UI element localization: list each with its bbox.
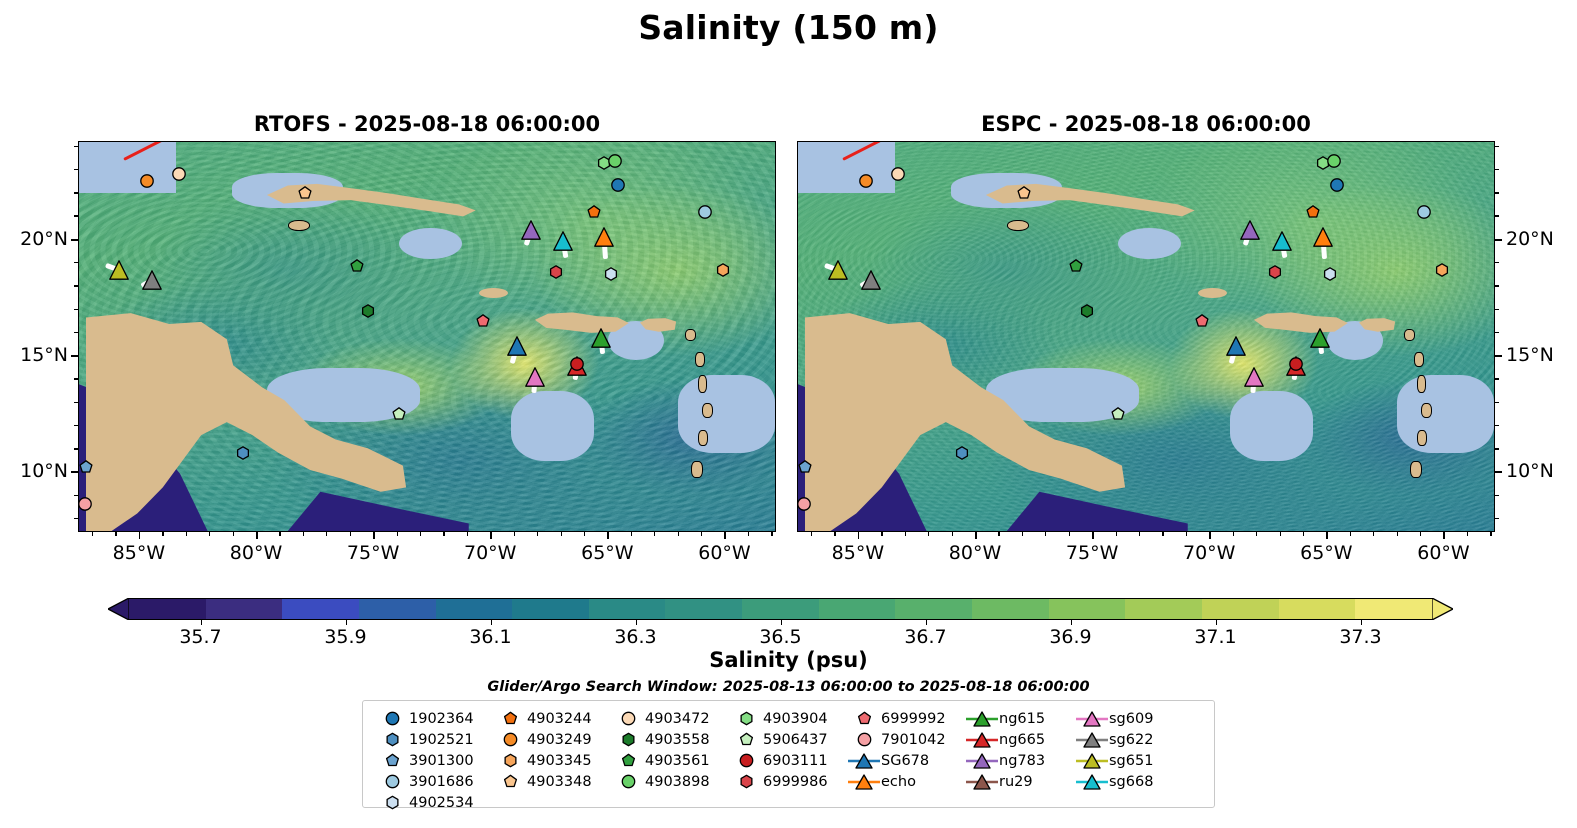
legend-item-label: ng783 [999, 753, 1045, 769]
x-axis-minor-tick [115, 532, 116, 536]
y-axis-minor-tick [1495, 215, 1499, 216]
legend-title: Glider/Argo Search Window: 2025-08-13 06… [0, 679, 1577, 695]
legend-item-sg651[interactable]: sg651 [1075, 750, 1185, 771]
x-axis-label: 75°W [1047, 542, 1137, 564]
x-axis-minor-tick [1467, 532, 1468, 536]
x-axis-minor-tick [233, 532, 234, 536]
legend-item-label: ng665 [999, 732, 1045, 748]
pentagon-marker-icon [493, 771, 527, 792]
x-axis-tick [607, 532, 609, 539]
circle-marker-icon [375, 708, 409, 729]
legend-item-6903111[interactable]: 6903111 [729, 750, 847, 771]
x-axis-minor-tick [537, 532, 538, 536]
hexagon-marker-icon [375, 729, 409, 750]
legend-item-label: 4903898 [645, 774, 710, 790]
colorbar-segment-16 [1355, 599, 1432, 619]
legend-item-label: SG678 [881, 753, 929, 769]
colorbar-tick [1216, 620, 1217, 625]
colorbar-tick [1071, 620, 1072, 625]
x-axis-minor-tick [92, 532, 93, 536]
legend-item-7901042[interactable]: 7901042 [847, 729, 965, 750]
map-marker-1902521[interactable] [954, 446, 969, 461]
x-axis-label: 65°W [1281, 542, 1371, 564]
y-axis-tick [1495, 239, 1502, 241]
colorbar-extend-max [1432, 598, 1453, 620]
hexagon-marker-icon [375, 792, 409, 813]
circle-marker-icon [847, 729, 881, 750]
map-marker-SG678[interactable] [507, 336, 528, 357]
circle-marker-icon [493, 729, 527, 750]
legend-item-label: echo [881, 774, 916, 790]
x-axis-minor-tick [443, 532, 444, 536]
y-axis-minor-tick [74, 262, 78, 263]
legend-item-echo[interactable]: echo [847, 771, 965, 792]
map-marker-4903558[interactable] [360, 304, 375, 319]
map-marker-7901042[interactable] [78, 496, 92, 511]
triangle-line-marker-icon [1075, 771, 1109, 792]
map-marker-4902534[interactable] [1323, 267, 1338, 282]
y-axis-tick [71, 471, 78, 473]
legend-item-label: 4903244 [527, 711, 592, 727]
legend-box[interactable]: 1902364190252139013003901686490253449032… [362, 700, 1215, 808]
salinity-field-espc [798, 142, 1494, 531]
x-axis-minor-tick [514, 532, 515, 536]
map-marker-4903345[interactable] [1434, 263, 1449, 278]
legend-item-label: sg651 [1109, 753, 1153, 769]
x-axis-label: 85°W [94, 542, 184, 564]
circle-marker-icon [611, 771, 645, 792]
map-marker-sg622[interactable] [142, 270, 163, 291]
legend-column-1: 4903244490324949033454903348 [493, 708, 611, 801]
y-axis-label: 10°N [1506, 460, 1554, 482]
colorbar-label: Salinity (psu) [0, 648, 1577, 672]
x-axis-minor-tick [467, 532, 468, 536]
y-axis-label: 20°N [0, 228, 68, 250]
salinity-field-rtofs [79, 142, 775, 531]
map-marker-4903472[interactable] [890, 166, 905, 181]
map-marker-3901300[interactable] [78, 459, 93, 474]
x-axis-label: 60°W [1398, 542, 1488, 564]
x-axis-minor-tick [1233, 532, 1234, 536]
x-axis-minor-tick [1256, 532, 1257, 536]
x-axis-minor-tick [1045, 532, 1046, 536]
map-marker-4903561[interactable] [350, 259, 365, 274]
y-axis-minor-tick [1495, 192, 1499, 193]
x-axis-minor-tick [1186, 532, 1187, 536]
legend-item-ru29[interactable]: ru29 [965, 771, 1075, 792]
map-marker-sg668[interactable] [552, 231, 573, 252]
colorbar-segment-1 [206, 599, 283, 619]
legend-item-label: 4903472 [645, 711, 710, 727]
pentagon-marker-icon [493, 708, 527, 729]
map-marker-sg609[interactable] [1243, 367, 1264, 388]
y-axis-minor-tick [74, 425, 78, 426]
y-axis-tick [71, 355, 78, 357]
x-axis-tick [1092, 532, 1094, 539]
triangle-line-marker-icon [965, 729, 999, 750]
colorbar-segment-8 [742, 599, 819, 619]
colorbar-segment-11 [972, 599, 1049, 619]
x-axis-tick [373, 532, 375, 539]
colorbar-segment-2 [282, 599, 359, 619]
x-axis-minor-tick [998, 532, 999, 536]
y-axis-minor-tick [74, 402, 78, 403]
x-axis-tick [724, 532, 726, 539]
legend-item-SG678[interactable]: SG678 [847, 750, 965, 771]
x-axis-minor-tick [834, 532, 835, 536]
legend-item-ng665[interactable]: ng665 [965, 729, 1075, 750]
y-axis-minor-tick [1495, 425, 1499, 426]
legend-item-ng783[interactable]: ng783 [965, 750, 1075, 771]
map-marker-1902364[interactable] [611, 177, 626, 192]
map-marker-3901300[interactable] [797, 459, 812, 474]
x-axis-tick [1443, 532, 1445, 539]
legend-item-1902521[interactable]: 1902521 [375, 729, 493, 750]
colorbar-tick-label: 36.3 [596, 626, 676, 648]
map-marker-ng783[interactable] [1240, 219, 1261, 240]
hexagon-marker-icon [493, 750, 527, 771]
circle-marker-icon [375, 771, 409, 792]
y-axis-label: 15°N [0, 344, 68, 366]
legend-item-label: 3901300 [409, 753, 474, 769]
x-axis-minor-tick [881, 532, 882, 536]
x-axis-minor-tick [279, 532, 280, 536]
legend-item-label: sg668 [1109, 774, 1153, 790]
legend-item-4903345[interactable]: 4903345 [493, 750, 611, 771]
map-marker-sg651[interactable] [109, 259, 130, 280]
x-axis-label: 80°W [211, 542, 301, 564]
map-marker-1902364[interactable] [1330, 177, 1345, 192]
x-axis-label: 70°W [1164, 542, 1254, 564]
map-marker-4903244[interactable] [587, 205, 602, 220]
legend-column-4: 69999927901042 SG678 echo [847, 708, 965, 801]
triangle-line-marker-icon [847, 750, 881, 771]
colorbar-tick-label: 36.9 [1031, 626, 1111, 648]
legend-item-1902364[interactable]: 1902364 [375, 708, 493, 729]
colorbar-segment-9 [819, 599, 896, 619]
pentagon-marker-icon [375, 750, 409, 771]
map-panel-espc[interactable] [797, 141, 1495, 532]
pentagon-marker-icon [847, 708, 881, 729]
x-axis-tick [1326, 532, 1328, 539]
legend-column-0: 19023641902521390130039016864902534 [375, 708, 493, 801]
hexagon-marker-icon [729, 771, 763, 792]
x-axis-minor-tick [1373, 532, 1374, 536]
colorbar-segment-12 [1049, 599, 1126, 619]
panel-title-espc: ESPC - 2025-08-18 06:00:00 [797, 112, 1495, 136]
y-axis-minor-tick [74, 448, 78, 449]
legend-item-label: 4903904 [763, 711, 828, 727]
map-marker-4903561[interactable] [1069, 259, 1084, 274]
pentagon-marker-icon [729, 729, 763, 750]
colorbar-tick-label: 35.9 [306, 626, 386, 648]
legend-item-label: 4902534 [409, 795, 474, 811]
map-marker-4903345[interactable] [715, 263, 730, 278]
x-axis-minor-tick [1280, 532, 1281, 536]
y-axis-minor-tick [1495, 495, 1499, 496]
map-marker-ng615[interactable] [591, 328, 612, 349]
map-marker-6999986[interactable] [548, 265, 563, 280]
map-marker-4903558[interactable] [1079, 304, 1094, 319]
colorbar[interactable]: 35.735.936.136.336.536.736.937.137.3 [108, 598, 1453, 620]
legend-item-label: 3901686 [409, 774, 474, 790]
map-panel-rtofs[interactable] [78, 141, 776, 532]
x-axis-minor-tick [1116, 532, 1117, 536]
map-marker-4903244[interactable] [1306, 205, 1321, 220]
colorbar-tick [1361, 620, 1362, 625]
colorbar-tick [201, 620, 202, 625]
y-axis-label: 15°N [1506, 344, 1554, 366]
map-marker-3901686[interactable] [698, 205, 713, 220]
map-marker-4903249[interactable] [140, 173, 155, 188]
x-axis-tick [1209, 532, 1211, 539]
legend-item-label: 1902364 [409, 711, 474, 727]
map-marker-ng783[interactable] [521, 219, 542, 240]
map-marker-echo[interactable] [1313, 227, 1334, 248]
colorbar-tick-label: 37.1 [1176, 626, 1256, 648]
map-marker-1902521[interactable] [235, 446, 250, 461]
legend-column-5: ng615 ng665 ng783 ru29 [965, 708, 1075, 801]
map-marker-5906437[interactable] [1111, 407, 1126, 422]
x-axis-minor-tick [952, 532, 953, 536]
x-axis-minor-tick [209, 532, 210, 536]
legend-item-label: 4903348 [527, 774, 592, 790]
x-axis-label: 60°W [679, 542, 769, 564]
legend-item-label: 4903561 [645, 753, 710, 769]
legend-item-4903472[interactable]: 4903472 [611, 708, 729, 729]
legend-item-6999992[interactable]: 6999992 [847, 708, 965, 729]
legend-item-label: 6903111 [763, 753, 828, 769]
map-marker-4903348[interactable] [1017, 185, 1032, 200]
x-axis-tick [490, 532, 492, 539]
y-axis-tick [1495, 471, 1502, 473]
x-axis-minor-tick [1022, 532, 1023, 536]
y-axis-minor-tick [74, 309, 78, 310]
colorbar-tick [781, 620, 782, 625]
x-axis-minor-tick [1303, 532, 1304, 536]
x-axis-minor-tick [678, 532, 679, 536]
x-axis-minor-tick [397, 532, 398, 536]
colorbar-extend-min [108, 598, 129, 620]
triangle-line-marker-icon [965, 750, 999, 771]
x-axis-label: 65°W [562, 542, 652, 564]
map-marker-sg668[interactable] [1271, 231, 1292, 252]
legend-item-4903561[interactable]: 4903561 [611, 750, 729, 771]
y-axis-minor-tick [74, 215, 78, 216]
y-axis-minor-tick [1495, 402, 1499, 403]
legend-item-sg668[interactable]: sg668 [1075, 771, 1185, 792]
colorbar-tick [346, 620, 347, 625]
figure-title: Salinity (150 m) [0, 8, 1577, 47]
x-axis-minor-tick [1420, 532, 1421, 536]
legend-item-ng615[interactable]: ng615 [965, 708, 1075, 729]
x-axis-minor-tick [928, 532, 929, 536]
pentagon-marker-icon [611, 750, 645, 771]
y-axis-label: 10°N [0, 460, 68, 482]
map-marker-6903111[interactable] [1288, 356, 1303, 371]
triangle-line-marker-icon [1075, 750, 1109, 771]
triangle-line-marker-icon [965, 708, 999, 729]
x-axis-minor-tick [631, 532, 632, 536]
colorbar-tick [491, 620, 492, 625]
map-marker-6903111[interactable] [569, 356, 584, 371]
map-marker-5906437[interactable] [392, 407, 407, 422]
legend-item-label: sg622 [1109, 732, 1153, 748]
legend-item-label: 4903558 [645, 732, 710, 748]
triangle-line-marker-icon [1075, 729, 1109, 750]
map-marker-3901686[interactable] [1417, 205, 1432, 220]
y-axis-minor-tick [74, 146, 78, 147]
legend-item-label: ng615 [999, 711, 1045, 727]
legend-item-4903898[interactable]: 4903898 [611, 771, 729, 792]
colorbar-segment-5 [512, 599, 589, 619]
map-marker-4903348[interactable] [298, 185, 313, 200]
legend-item-3901686[interactable]: 3901686 [375, 771, 493, 792]
map-marker-SG678[interactable] [1226, 336, 1247, 357]
colorbar-tick-label: 36.1 [451, 626, 531, 648]
y-axis-minor-tick [1495, 518, 1499, 519]
colorbar-tick [926, 620, 927, 625]
y-axis-tick [1495, 355, 1502, 357]
hexagon-marker-icon [729, 708, 763, 729]
x-axis-minor-tick [186, 532, 187, 536]
legend-item-4903348[interactable]: 4903348 [493, 771, 611, 792]
legend-item-4902534[interactable]: 4902534 [375, 792, 493, 813]
map-marker-ng615[interactable] [1310, 328, 1331, 349]
x-axis-minor-tick [1069, 532, 1070, 536]
triangle-line-marker-icon [965, 771, 999, 792]
colorbar-tick-label: 37.3 [1321, 626, 1401, 648]
map-marker-4903249[interactable] [859, 173, 874, 188]
y-axis-minor-tick [1495, 448, 1499, 449]
colorbar-tick-label: 36.5 [741, 626, 821, 648]
circle-marker-icon [611, 708, 645, 729]
circle-marker-icon [729, 750, 763, 771]
x-axis-minor-tick [584, 532, 585, 536]
x-axis-minor-tick [771, 532, 772, 536]
legend-item-label: 4903249 [527, 732, 592, 748]
colorbar-segment-13 [1125, 599, 1202, 619]
triangle-line-marker-icon [847, 771, 881, 792]
map-marker-echo[interactable] [594, 227, 615, 248]
legend-item-label: 5906437 [763, 732, 828, 748]
legend-item-6999986[interactable]: 6999986 [729, 771, 847, 792]
y-axis-minor-tick [1495, 169, 1499, 170]
x-axis-label: 75°W [328, 542, 418, 564]
map-marker-sg609[interactable] [524, 367, 545, 388]
legend-item-4903904[interactable]: 4903904 [729, 708, 847, 729]
y-axis-minor-tick [74, 518, 78, 519]
colorbar-tick [636, 620, 637, 625]
x-axis-tick [975, 532, 977, 539]
legend-column-6: sg609 sg622 sg651 sg668 [1075, 708, 1185, 801]
x-axis-tick [858, 532, 860, 539]
legend-item-4903558[interactable]: 4903558 [611, 729, 729, 750]
x-axis-minor-tick [654, 532, 655, 536]
x-axis-minor-tick [561, 532, 562, 536]
legend-item-4903244[interactable]: 4903244 [493, 708, 611, 729]
y-axis-minor-tick [74, 495, 78, 496]
y-axis-tick [71, 239, 78, 241]
map-marker-sg651[interactable] [828, 259, 849, 280]
x-axis-minor-tick [905, 532, 906, 536]
y-axis-minor-tick [74, 192, 78, 193]
colorbar-segment-10 [895, 599, 972, 619]
y-axis-minor-tick [74, 378, 78, 379]
y-axis-minor-tick [1495, 332, 1499, 333]
legend-item-label: sg609 [1109, 711, 1153, 727]
x-axis-minor-tick [701, 532, 702, 536]
y-axis-minor-tick [1495, 285, 1499, 286]
x-axis-label: 80°W [930, 542, 1020, 564]
x-axis-minor-tick [1139, 532, 1140, 536]
y-axis-minor-tick [1495, 262, 1499, 263]
legend-item-sg622[interactable]: sg622 [1075, 729, 1185, 750]
legend-item-3901300[interactable]: 3901300 [375, 750, 493, 771]
x-axis-label: 85°W [813, 542, 903, 564]
colorbar-segment-3 [359, 599, 436, 619]
legend-item-label: 7901042 [881, 732, 946, 748]
y-axis-minor-tick [74, 285, 78, 286]
x-axis-tick [256, 532, 258, 539]
x-axis-minor-tick [1350, 532, 1351, 536]
map-marker-6999992[interactable] [1194, 313, 1209, 328]
map-marker-4902534[interactable] [604, 267, 619, 282]
legend-item-label: 6999992 [881, 711, 946, 727]
legend-column-3: 4903904590643769031116999986 [729, 708, 847, 801]
colorbar-segment-6 [589, 599, 666, 619]
legend-item-label: ru29 [999, 774, 1033, 790]
x-axis-minor-tick [811, 532, 812, 536]
map-marker-6999992[interactable] [475, 313, 490, 328]
colorbar-tick-label: 36.7 [886, 626, 966, 648]
map-marker-6999986[interactable] [1267, 265, 1282, 280]
y-axis-label: 20°N [1506, 228, 1554, 250]
triangle-line-marker-icon [1075, 708, 1109, 729]
legend-item-label: 4903345 [527, 753, 592, 769]
x-axis-minor-tick [303, 532, 304, 536]
colorbar-segment-4 [436, 599, 513, 619]
colorbar-segment-14 [1202, 599, 1279, 619]
colorbar-segment-0 [129, 599, 206, 619]
x-axis-minor-tick [326, 532, 327, 536]
y-axis-minor-tick [1495, 309, 1499, 310]
colorbar-tick-label: 35.7 [161, 626, 241, 648]
x-axis-minor-tick [350, 532, 351, 536]
x-axis-minor-tick [420, 532, 421, 536]
legend-item-label: 1902521 [409, 732, 474, 748]
y-axis-minor-tick [1495, 146, 1499, 147]
legend-item-4903249[interactable]: 4903249 [493, 729, 611, 750]
colorbar-segment-15 [1279, 599, 1356, 619]
x-axis-tick [139, 532, 141, 539]
map-marker-4903472[interactable] [171, 166, 186, 181]
y-axis-minor-tick [74, 332, 78, 333]
colorbar-segment-7 [665, 599, 742, 619]
x-axis-minor-tick [162, 532, 163, 536]
map-marker-4903898[interactable] [1326, 154, 1341, 169]
map-marker-4903898[interactable] [607, 154, 622, 169]
x-axis-minor-tick [748, 532, 749, 536]
legend-column-2: 4903472490355849035614903898 [611, 708, 729, 801]
legend-item-sg609[interactable]: sg609 [1075, 708, 1185, 729]
panel-title-rtofs: RTOFS - 2025-08-18 06:00:00 [78, 112, 776, 136]
x-axis-minor-tick [1490, 532, 1491, 536]
legend-item-5906437[interactable]: 5906437 [729, 729, 847, 750]
map-marker-sg622[interactable] [861, 270, 882, 291]
legend-item-label: 6999986 [763, 774, 828, 790]
map-marker-7901042[interactable] [797, 496, 811, 511]
